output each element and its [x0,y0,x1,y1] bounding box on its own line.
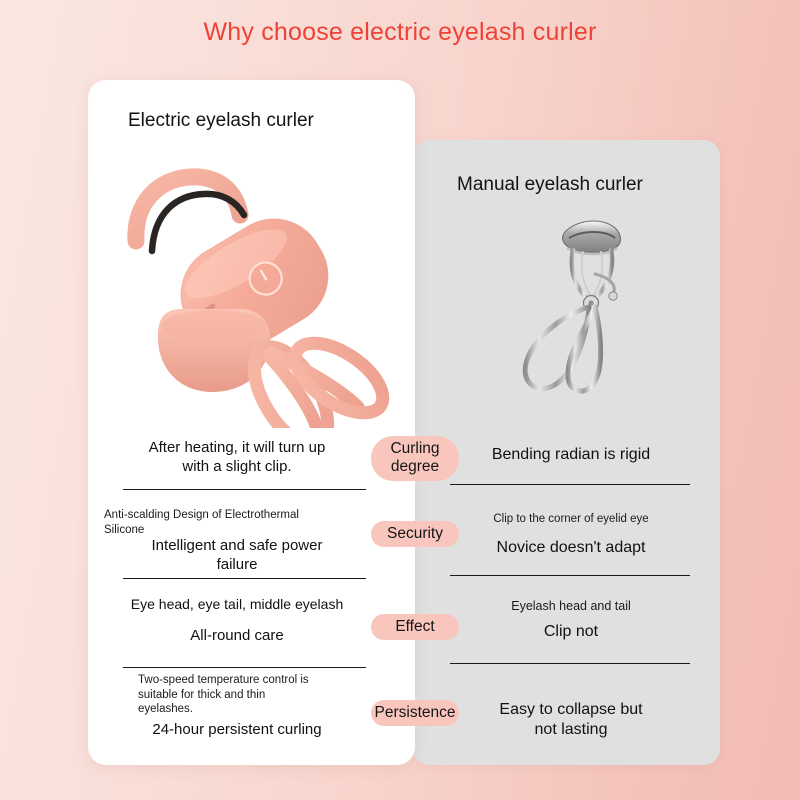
electric-value-persistence: 24-hour persistent curling [103,720,371,739]
manual-sub-effect: Eyelash head and tail [440,598,702,614]
row-divider-left [123,578,366,579]
manual-value-effect: Clip not [440,622,702,642]
row-divider-left [123,489,366,490]
electric-sub-security: Anti-scalding Design of Electrothermal S… [100,508,380,537]
row-divider-left [123,667,366,668]
infographic-canvas: Why choose electric eyelash curler Elect… [0,0,800,800]
comparison-table: After heating, it will turn up with a sl… [0,0,800,800]
manual-value-curling-degree: Bending radian is rigid [440,445,702,465]
electric-value-effect: All-round care [103,626,371,645]
row-divider-right [450,575,690,576]
electric-sub-persistence: Two-speed temperature control is suitabl… [100,673,380,717]
row-divider-right [450,484,690,485]
manual-sub-security: Clip to the corner of eyelid eye [440,512,702,527]
electric-sub-effect: Eye head, eye tail, middle eyelash [103,596,371,614]
manual-value-security: Novice doesn't adapt [440,538,702,558]
manual-value-persistence: Easy to collapse but not lasting [440,700,702,741]
electric-value-curling-degree: After heating, it will turn up with a sl… [103,438,371,476]
electric-value-security: Intelligent and safe power failure [103,536,371,574]
row-divider-right [450,663,690,664]
